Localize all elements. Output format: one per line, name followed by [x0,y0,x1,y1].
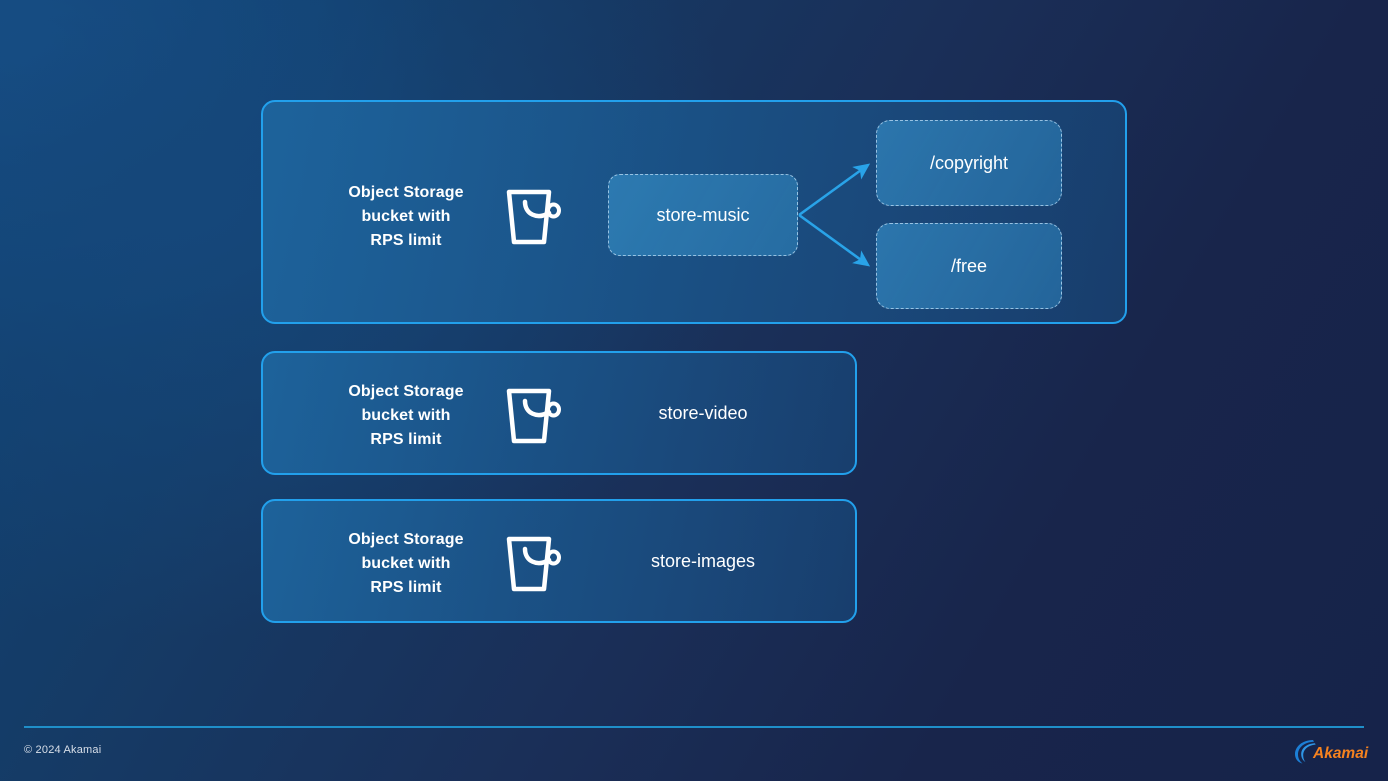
bucket-group-store-music: Object Storage bucket with RPS limit [331,181,565,253]
chip-store-video: store-video [608,390,798,436]
node-label: /free [951,256,987,277]
slide-canvas: Object Storage bucket with RPS limit sto… [0,0,1388,781]
bucket-label: Object Storage bucket with RPS limit [331,528,481,600]
node-label: /copyright [930,153,1008,174]
bucket-label: Object Storage bucket with RPS limit [331,181,481,253]
bucket-group-store-images: Object Storage bucket with RPS limit [331,528,565,600]
footer-divider [24,726,1364,728]
akamai-logo-text: Akamai [1312,745,1369,762]
bucket-icon [503,383,565,449]
chip-store-music[interactable]: store-music [608,174,798,256]
chip-label: store-video [658,401,747,425]
chip-label: store-music [656,203,749,227]
chip-store-images: store-images [608,538,798,584]
bucket-icon [503,184,565,250]
bucket-group-store-video: Object Storage bucket with RPS limit [331,380,565,452]
chip-label: store-images [651,549,755,573]
bucket-label: Object Storage bucket with RPS limit [331,380,481,452]
node-copyright[interactable]: /copyright [876,120,1062,206]
footer-copyright: © 2024 Akamai [24,744,101,756]
bucket-icon [503,531,565,597]
node-free[interactable]: /free [876,223,1062,309]
